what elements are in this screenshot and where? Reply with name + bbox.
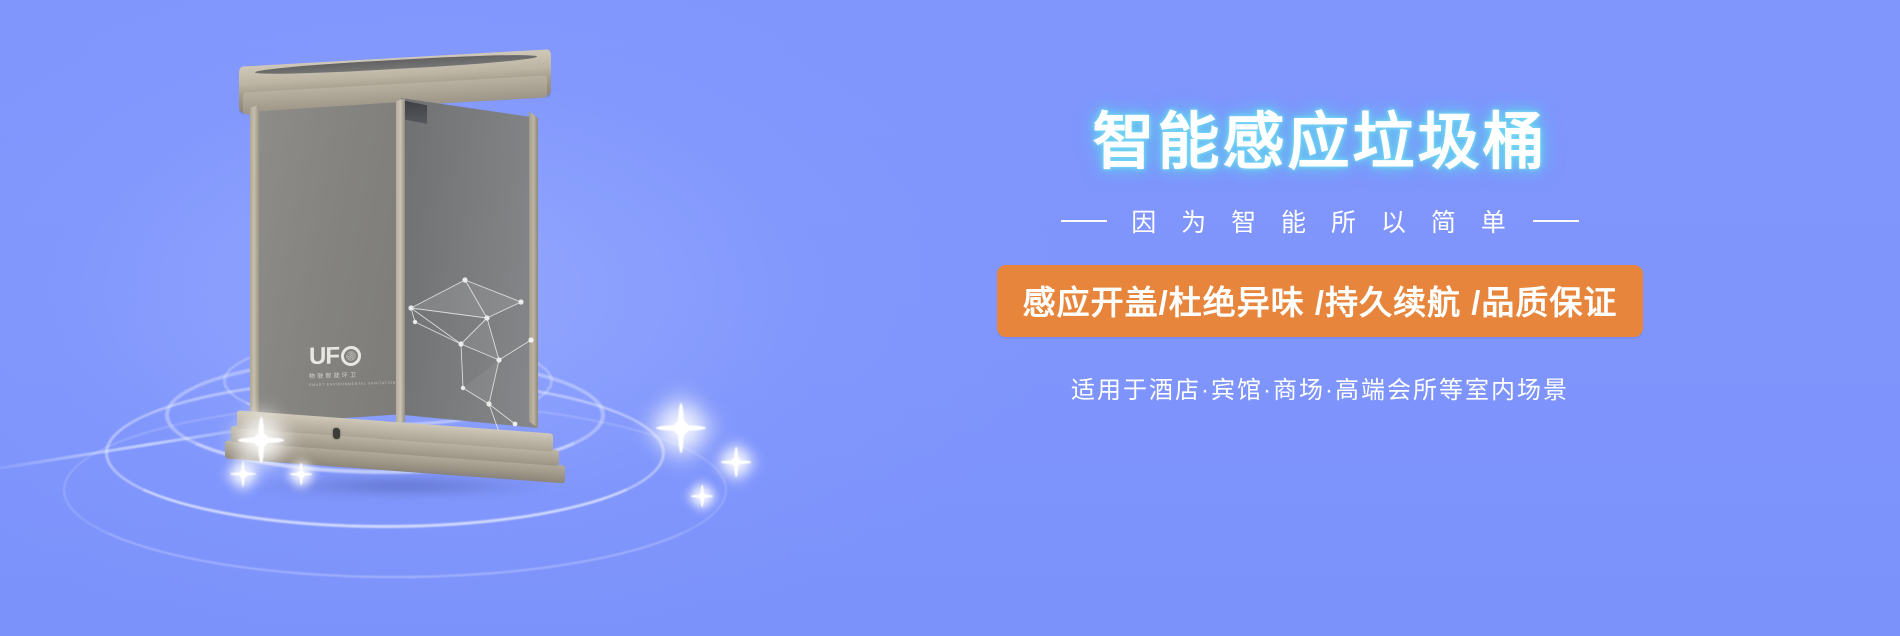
bin-body: UF 物联智能环卫 SMART ENVIRONMENTAL SANITATION <box>253 98 537 428</box>
scenes-text: 适用于酒店·宾馆·商场·高端会所等室内场景 <box>880 370 1760 405</box>
feature-bar: 感应开盖/杜绝异味 /持久续航 /品质保证 <box>997 265 1644 337</box>
promo-banner: UF 物联智能环卫 SMART ENVIRONMENTAL SANITATION… <box>0 0 1900 636</box>
logo-wordmark: UF <box>309 344 339 369</box>
trash-bin: UF 物联智能环卫 SMART ENVIRONMENTAL SANITATION <box>245 50 545 470</box>
copy-block: 智能感应垃圾桶 因 为 智 能 所 以 简 单 感应开盖/杜绝异味 /持久续航 … <box>880 108 1760 405</box>
headline: 智能感应垃圾桶 <box>880 108 1760 177</box>
ufo-brand-logo: UF 物联智能环卫 SMART ENVIRONMENTAL SANITATION <box>309 343 393 387</box>
bin-edge-left <box>250 98 259 428</box>
polygon-network-graphic <box>403 248 539 438</box>
rule-left-icon <box>1061 220 1107 222</box>
product-image: UF 物联智能环卫 SMART ENVIRONMENTAL SANITATION <box>95 50 715 540</box>
subline: 因 为 智 能 所 以 简 单 <box>880 203 1760 239</box>
logo-cn-tagline: 物联智能环卫 <box>309 369 393 380</box>
subline-text: 因 为 智 能 所 以 简 单 <box>1125 203 1515 239</box>
bin-base-keyhole <box>333 428 340 440</box>
logo-circle-mark <box>341 346 361 367</box>
bin-drop-shadow <box>263 474 543 498</box>
rule-right-icon <box>1533 220 1579 222</box>
